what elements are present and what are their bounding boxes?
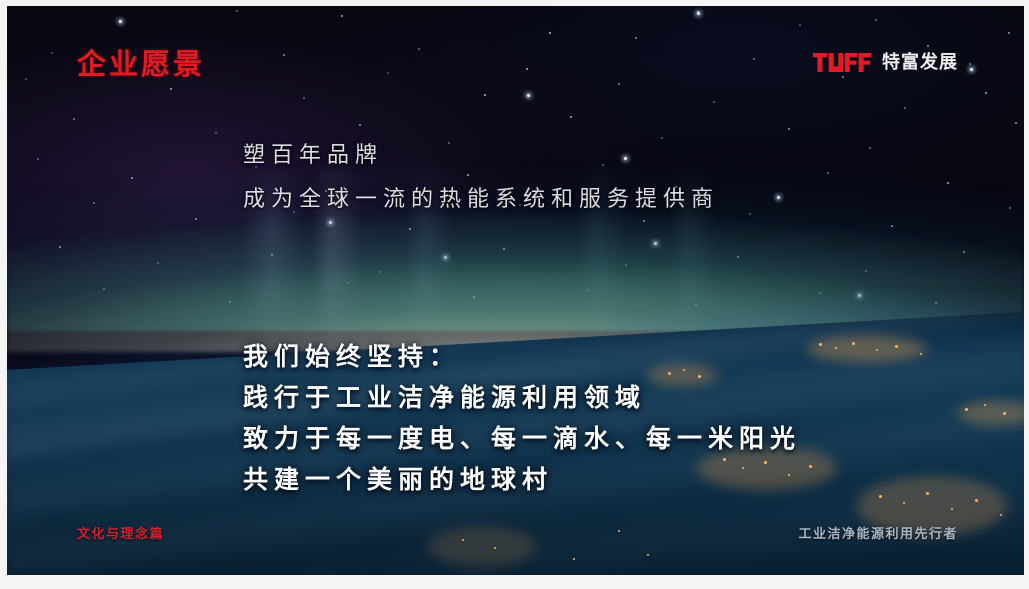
presentation-slide: 企业愿景 特富发展 塑百年品牌 成为全球一流的热能系统和服务提供商 bbox=[7, 6, 1024, 575]
slide-content: 企业愿景 特富发展 塑百年品牌 成为全球一流的热能系统和服务提供商 bbox=[7, 6, 1024, 575]
vision-statement-block: 塑百年品牌 成为全球一流的热能系统和服务提供商 bbox=[243, 134, 719, 222]
commitment-line: 致力于每一度电、每一滴水、每一米阳光 bbox=[243, 418, 801, 459]
vision-line: 成为全球一流的热能系统和服务提供商 bbox=[243, 178, 719, 222]
brand-logo: 特富发展 bbox=[813, 53, 958, 72]
commitment-statement-block: 我们始终坚持： 践行于工业洁净能源利用领域 致力于每一度电、每一滴水、每一米阳光… bbox=[243, 336, 801, 500]
commitment-line: 我们始终坚持： bbox=[243, 336, 801, 377]
footer-section-label: 文化与理念篇 bbox=[77, 528, 164, 541]
tuff-logo-icon bbox=[813, 53, 873, 72]
commitment-line: 共建一个美丽的地球村 bbox=[243, 459, 801, 500]
slide-frame: 企业愿景 特富发展 塑百年品牌 成为全球一流的热能系统和服务提供商 bbox=[0, 0, 1029, 589]
vision-line: 塑百年品牌 bbox=[243, 134, 719, 178]
commitment-line: 践行于工业洁净能源利用领域 bbox=[243, 377, 801, 418]
brand-name: 特富发展 bbox=[882, 54, 958, 72]
footer-tagline: 工业洁净能源利用先行者 bbox=[798, 528, 958, 541]
page-title: 企业愿景 bbox=[77, 50, 205, 79]
